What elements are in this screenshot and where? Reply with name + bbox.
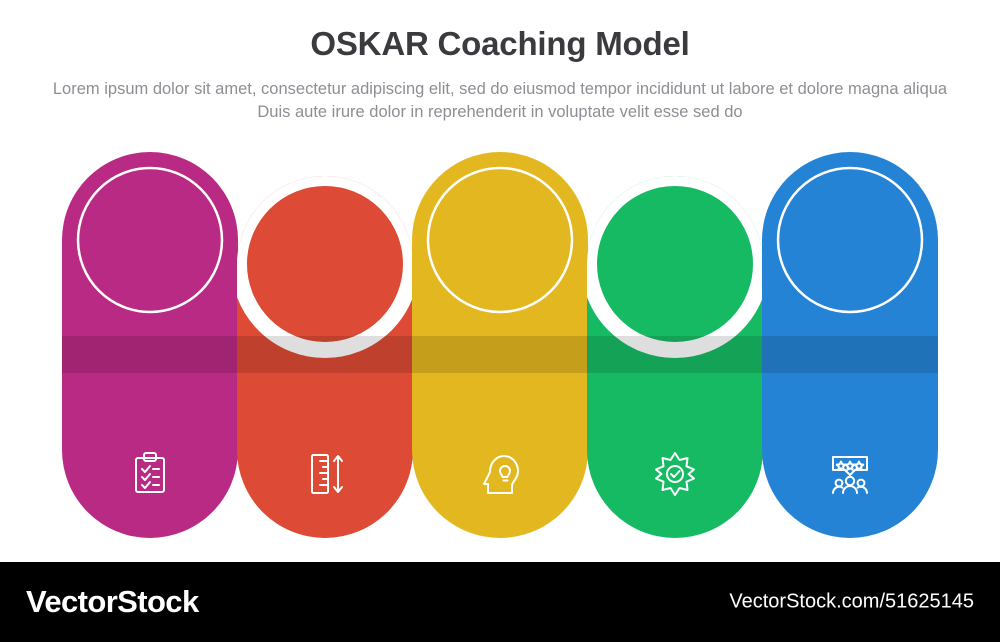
page-subtitle: Lorem ipsum dolor sit amet, consectetur … — [45, 78, 955, 124]
brand-logo: VectorStock — [26, 584, 199, 620]
page-title: OSKAR Coaching Model — [0, 25, 1000, 63]
oskar-column-r[interactable] — [0, 140, 1000, 550]
rating-people-icon — [824, 448, 884, 502]
source-url: VectorStock.com/51625145 — [729, 591, 974, 614]
infographic-canvas: OSKAR Coaching Model Lorem ipsum dolor s… — [0, 0, 1000, 642]
oskar-diagram — [0, 140, 1000, 550]
footer-bar: VectorStock VectorStock.com/51625145 — [0, 562, 1000, 642]
